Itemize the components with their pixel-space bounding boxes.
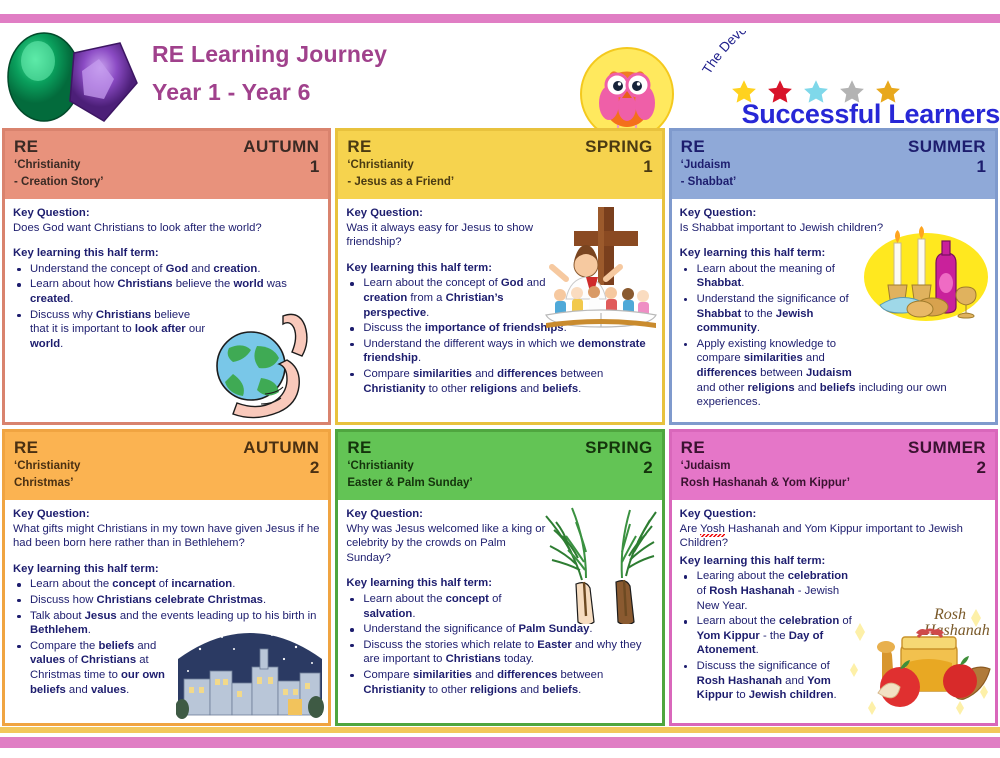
list-item: Learing about the celebration of Rosh Ha… [695, 569, 861, 613]
school-name-arc: The Devonshire Hill Nursery and Primary … [700, 31, 1000, 83]
key-learning-label: Key learning this half term: [346, 576, 653, 591]
card-term-number: 2 [243, 458, 319, 477]
key-learning-label: Key learning this half term: [680, 554, 987, 569]
list-item: Learn about how Christians believe the w… [28, 277, 320, 306]
card-topic-line-1: ‘Christianity [14, 459, 80, 474]
card-topic-line-1: ‘Christianity [14, 158, 103, 173]
title-line-1: RE Learning Journey [152, 35, 387, 73]
key-learning-label: Key learning this half term: [346, 261, 653, 276]
key-question-label: Key Question: [680, 206, 987, 221]
key-learning-label: Key learning this half term: [13, 246, 320, 261]
key-question-label: Key Question: [13, 507, 320, 522]
list-item: Learn about the celebration of Yom Kippu… [695, 614, 861, 658]
card-header: RE ‘Christianity Easter & Palm Sunday’ S… [338, 432, 661, 500]
card-body: Key Question: Is Shabbat important to Je… [672, 199, 995, 422]
card-body: Key Question: Are Yosh Hashanah and Yom … [672, 500, 995, 723]
card-term-number: 1 [908, 157, 986, 176]
key-learning-label: Key learning this half term: [13, 562, 320, 577]
card-term-number: 2 [585, 458, 653, 477]
list-item: Learn about the meaning of Shabbat. [695, 262, 867, 291]
gemstones-icon [0, 25, 140, 125]
key-question-text: Are Yosh Hashanah and Yom Kippur importa… [680, 522, 987, 551]
key-learning-list: Learn about the concept of incarnation. … [13, 577, 320, 697]
card-header: RE ‘Christianity - Jesus as a Friend’ SP… [338, 131, 661, 199]
card-body: Key Question: What gifts might Christian… [5, 500, 328, 723]
card-term-number: 1 [585, 157, 653, 176]
page-title: RE Learning Journey Year 1 - Year 6 [152, 35, 387, 111]
key-question-label: Key Question: [346, 507, 653, 522]
card-header: RE ‘Judaism Rosh Hashanah & Yom Kippur’ … [672, 432, 995, 500]
list-item: Discuss the importance of friendships. [361, 321, 653, 336]
card-topic-line-1: ‘Christianity [347, 459, 472, 474]
card-autumn-2: RE ‘Christianity Christmas’ AUTUMN 2 Key… [2, 429, 331, 726]
list-item: Compare similarities and differences bet… [361, 367, 653, 396]
key-question-label: Key Question: [346, 206, 653, 221]
list-item: Learn about the concept of incarnation. [28, 577, 320, 592]
card-subject: RE [681, 137, 737, 156]
card-term: SPRING [585, 137, 653, 156]
key-learning-label: Key learning this half term: [680, 246, 987, 261]
list-item: Understand the different ways in which w… [361, 337, 653, 366]
card-subject: RE [681, 438, 850, 457]
card-term: SUMMER [908, 438, 986, 457]
list-item: Understand the significance of Palm Sund… [361, 622, 653, 637]
re-learning-journey-page: RE Learning Journey Year 1 - Year 6 [0, 0, 1000, 758]
list-item: Discuss why Christians believe that it i… [28, 308, 211, 352]
svg-text:The Devonshire Hill Nursery an: The Devonshire Hill Nursery and Primary … [700, 31, 970, 77]
card-topic-line-1: ‘Christianity [347, 158, 454, 173]
list-item: Learn about the concept of salvation. [361, 592, 544, 621]
card-topic-line-1: ‘Judaism [681, 459, 850, 474]
card-term: AUTUMN [243, 438, 319, 457]
bottom-gold-rule [0, 727, 1000, 733]
card-topic-line-2: - Jesus as a Friend’ [347, 175, 454, 190]
card-header: RE ‘Christianity - Creation Story’ AUTUM… [5, 131, 328, 199]
list-item: Talk about Jesus and the events leading … [28, 609, 320, 638]
list-item: Discuss the significance of Rosh Hashana… [695, 659, 861, 703]
key-learning-list: Learn about the concept of God and creat… [346, 276, 653, 396]
card-header: RE ‘Judaism - Shabbat’ SUMMER 1 [672, 131, 995, 199]
key-question-text: What gifts might Christians in my town h… [13, 522, 320, 551]
list-item: Understand the concept of God and creati… [28, 262, 320, 277]
card-term-number: 1 [243, 157, 319, 176]
key-question-label: Key Question: [680, 507, 987, 522]
school-motto: Successful Learners [700, 99, 1000, 130]
card-body: Key Question: Was it always easy for Jes… [338, 199, 661, 422]
key-question-text: Why was Jesus welcomed like a king or ce… [346, 522, 549, 566]
card-subject: RE [347, 438, 472, 457]
card-autumn-1: RE ‘Christianity - Creation Story’ AUTUM… [2, 128, 331, 425]
misspelled-word: Yosh [700, 523, 725, 535]
card-topic-line-2: Christmas’ [14, 476, 80, 491]
list-item: Learn about the concept of God and creat… [361, 276, 550, 320]
card-topic-line-1: ‘Judaism [681, 158, 737, 173]
school-branding: The Devonshire Hill Nursery and Primary … [700, 31, 1000, 143]
card-spring-2: RE ‘Christianity Easter & Palm Sunday’ S… [335, 429, 664, 726]
card-topic-line-2: Easter & Palm Sunday’ [347, 476, 472, 491]
card-term: SPRING [585, 438, 653, 457]
curriculum-card-grid: RE ‘Christianity - Creation Story’ AUTUM… [2, 128, 998, 726]
card-term: SUMMER [908, 137, 986, 156]
card-header: RE ‘Christianity Christmas’ AUTUMN 2 [5, 432, 328, 500]
list-item: Compare similarities and differences bet… [361, 668, 653, 697]
card-summer-2: RE ‘Judaism Rosh Hashanah & Yom Kippur’ … [669, 429, 998, 726]
card-term-number: 2 [908, 458, 986, 477]
key-question-text: Does God want Christians to look after t… [13, 221, 320, 236]
key-learning-list: Understand the concept of God and creati… [13, 262, 320, 352]
card-body: Key Question: Does God want Christians t… [5, 199, 328, 422]
card-subject: RE [14, 438, 80, 457]
key-question-label: Key Question: [13, 206, 320, 221]
card-body: Key Question: Why was Jesus welcomed lik… [338, 500, 661, 723]
school-name-text: The Devonshire Hill Nursery and Primary … [700, 31, 970, 77]
top-pink-rule [0, 14, 1000, 23]
question-prefix: Are [680, 523, 701, 535]
key-question-text: Was it always easy for Jesus to show fri… [346, 221, 543, 250]
card-topic-line-2: - Creation Story’ [14, 175, 103, 190]
card-subject: RE [14, 137, 103, 156]
card-subject: RE [347, 137, 454, 156]
list-item: Understand the significance of Shabbat t… [695, 292, 867, 336]
page-header: RE Learning Journey Year 1 - Year 6 [0, 23, 1000, 128]
card-summer-1: RE ‘Judaism - Shabbat’ SUMMER 1 Key Ques… [669, 128, 998, 425]
list-item: Discuss the stories which relate to East… [361, 638, 653, 667]
bottom-pink-rule [0, 737, 1000, 748]
key-question-text: Is Shabbat important to Jewish children? [680, 221, 987, 236]
list-item: Discuss how Christians celebrate Christm… [28, 593, 320, 608]
card-topic-line-2: - Shabbat’ [681, 175, 737, 190]
title-line-2: Year 1 - Year 6 [152, 73, 387, 111]
key-learning-list: Learn about the concept of salvation. Un… [346, 592, 653, 697]
list-item: Apply existing knowledge tocompare simil… [695, 337, 987, 410]
key-learning-list: Learing about the celebration of Rosh Ha… [680, 569, 987, 702]
key-learning-list: Learn about the meaning of Shabbat. Unde… [680, 262, 987, 410]
card-term: AUTUMN [243, 137, 319, 156]
card-topic-line-2: Rosh Hashanah & Yom Kippur’ [681, 476, 850, 491]
list-item: Compare the beliefs and values of Christ… [28, 639, 182, 697]
card-spring-1: RE ‘Christianity - Jesus as a Friend’ SP… [335, 128, 664, 425]
